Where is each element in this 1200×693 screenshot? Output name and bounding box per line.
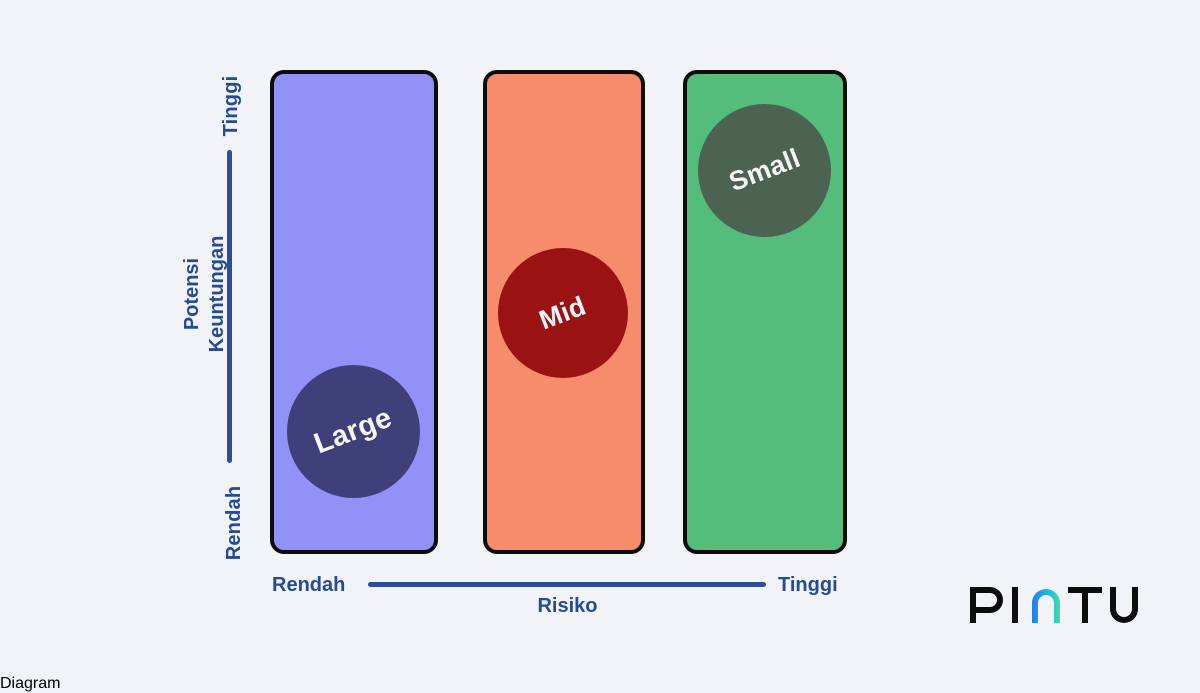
bubble-large-label: Large — [310, 402, 397, 462]
x-axis-high-label: Tinggi — [778, 573, 838, 597]
y-axis-low-label: Rendah — [222, 483, 246, 563]
y-axis-title-line-2: Keuntungan — [205, 236, 230, 353]
logo-letter-n — [1032, 589, 1060, 623]
logo-letter-t — [1068, 587, 1102, 623]
bubble-small-label: Small — [725, 143, 805, 198]
logo-letter-u — [1110, 587, 1138, 623]
pintu-logo: PINTU — [968, 583, 1138, 627]
logo-letter-p — [970, 587, 1003, 623]
x-axis-low-label: Rendah — [272, 573, 345, 597]
bubble-mid: Mid — [498, 248, 628, 378]
pintu-logo-icon — [968, 583, 1138, 627]
y-axis-title: Potensi Keuntungan — [179, 194, 231, 394]
y-axis-high-label: Tinggi — [219, 71, 243, 141]
bubble-mid-label: Mid — [535, 290, 590, 336]
bubble-small: Small — [698, 104, 831, 237]
y-axis-title-line-1: Potensi — [180, 258, 205, 330]
diagram-canvas: Tinggi Potensi Keuntungan Rendah Large M… — [0, 0, 1200, 675]
logo-letter-i — [1012, 587, 1018, 623]
x-axis-line — [368, 582, 766, 587]
bubble-large: Large — [287, 365, 420, 498]
x-axis-title: Risiko — [0, 595, 1135, 618]
